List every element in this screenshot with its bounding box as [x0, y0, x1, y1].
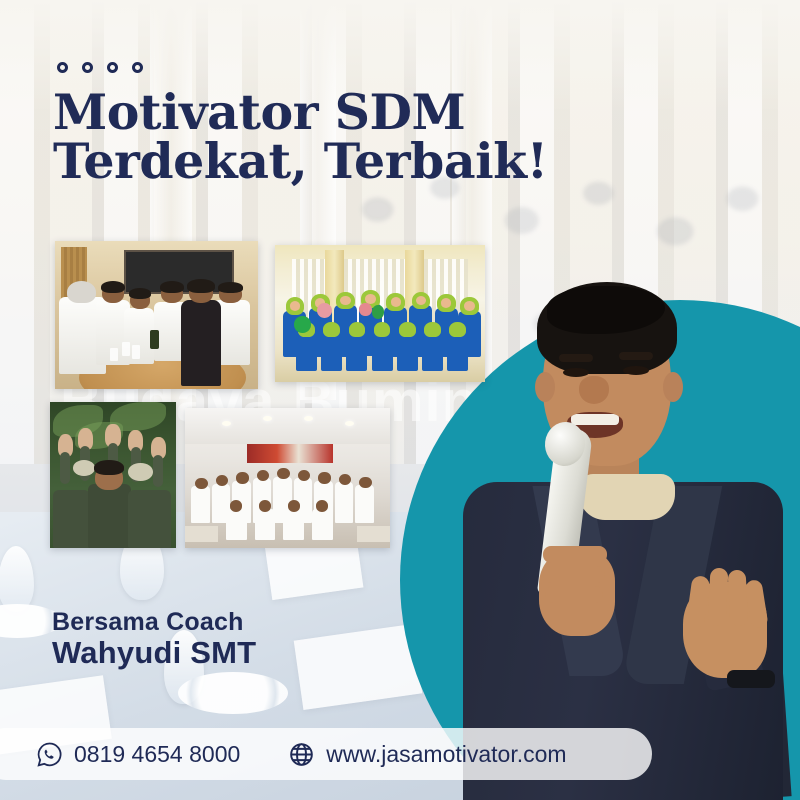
coach-name: Wahyudi SMT	[52, 636, 256, 670]
coach-name-block: Bersama Coach Wahyudi SMT	[52, 608, 256, 670]
dot-icon	[132, 62, 143, 73]
website-url: www.jasamotivator.com	[326, 741, 566, 768]
speaker-watch	[727, 670, 775, 688]
speaker-collar	[579, 474, 675, 520]
speaker-portrait	[455, 250, 785, 800]
napkin-2	[294, 624, 423, 710]
ball-pink	[317, 303, 332, 318]
glass-1	[0, 546, 34, 612]
coach-prefix: Bersama Coach	[52, 608, 256, 636]
plate-2	[178, 672, 288, 714]
photo-outdoor-raised-hands	[50, 402, 176, 548]
contact-phone[interactable]: 0819 4654 8000	[36, 741, 240, 768]
poster-canvas: Budaya Bumindo Motivator SDM Terdekat, T…	[0, 0, 800, 800]
contact-website[interactable]: www.jasamotivator.com	[288, 741, 566, 768]
ball-green	[294, 316, 311, 332]
headline-line-2: Terdekat, Terbaik!	[53, 137, 673, 186]
dot-icon	[82, 62, 93, 73]
contact-bar: 0819 4654 8000 www.jasamotivator.com	[0, 728, 652, 780]
phone-number: 0819 4654 8000	[74, 741, 240, 768]
photo-seminar-group	[185, 408, 390, 548]
whatsapp-icon	[36, 741, 63, 768]
photo-blue-uniform-group	[275, 245, 485, 382]
dot-icon	[107, 62, 118, 73]
dot-icon	[57, 62, 68, 73]
decorative-dots	[57, 62, 143, 73]
headline: Motivator SDM Terdekat, Terbaik!	[53, 88, 673, 185]
globe-icon	[288, 741, 315, 768]
ball-green-2	[372, 305, 385, 319]
photo-meeting-room-discussion	[55, 241, 258, 389]
ball-red	[359, 303, 372, 317]
